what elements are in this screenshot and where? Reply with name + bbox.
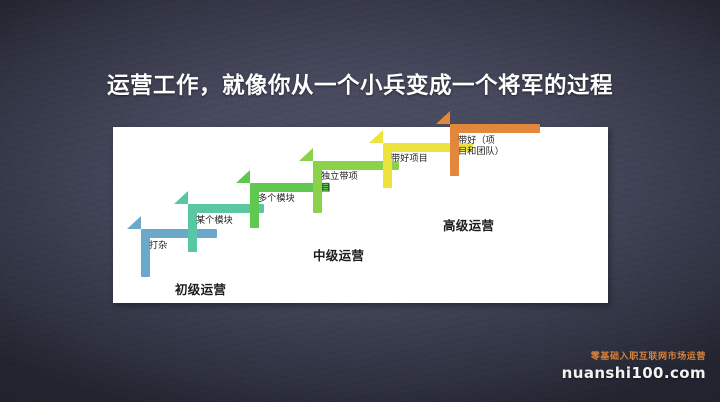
watermark-tagline: 零基础入职互联网市场运营 [562,349,706,362]
tier-label: 初级运营 [175,279,226,298]
watermark: 零基础入职互联网市场运营 nuanshi100.com [562,349,706,382]
step-bar-vertical [141,229,150,277]
tier-label: 高级运营 [443,215,494,234]
step-arrow-icon [299,148,313,161]
step-bar-vertical [188,204,197,252]
step-arrow-icon [127,216,141,229]
step-arrow-icon [436,111,450,124]
step-arrow-icon [369,130,383,143]
step-arrow-icon [236,170,250,183]
step-label: 独立带项 目 [321,171,379,193]
staircase-chart: 打杂某个模块多个模块独立带项 目带好项目带好（项 目和团队）初级运营中级运营高级… [113,127,608,303]
tier-label: 中级运营 [313,245,364,264]
step-bar-horizontal [450,124,540,133]
step-bar-vertical [250,183,259,228]
slide-title: 运营工作，就像你从一个小兵变成一个将军的过程 [0,68,720,100]
slide-panel: 打杂某个模块多个模块独立带项 目带好项目带好（项 目和团队）初级运营中级运营高级… [113,127,608,303]
step-bar-vertical [383,143,392,188]
watermark-url: nuanshi100.com [562,364,706,382]
step-label: 带好（项 目和团队） [458,135,516,157]
step-arrow-icon [174,191,188,204]
